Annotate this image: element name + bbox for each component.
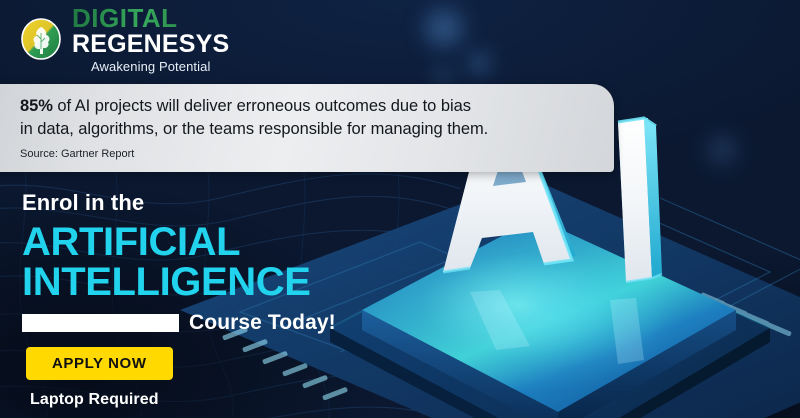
brand-wordmark: DIGITAL REGENESYS Awakening Potential: [72, 5, 229, 73]
statistic-line-2: in data, algorithms, or the teams respon…: [20, 118, 614, 141]
brand-tagline: Awakening Potential: [72, 60, 229, 73]
statistic-banner: 85% of AI projects will deliver erroneou…: [0, 84, 614, 172]
statistic-line-1-rest: of AI projects will deliver erroneous ou…: [53, 97, 471, 115]
brand-name-line1: DIGITAL: [72, 5, 229, 31]
brand-logo[interactable]: DIGITAL REGENESYS Awakening Potential: [18, 8, 208, 70]
apply-now-button[interactable]: APPLY NOW: [26, 347, 173, 380]
statistic-line-1: 85% of AI projects will deliver erroneou…: [20, 95, 614, 118]
tree-emblem-icon: [18, 16, 64, 62]
blank-redaction-bar: [22, 314, 179, 332]
headline-kicker: Enrol in the: [22, 192, 382, 214]
headline-line-1: ARTIFICIAL: [22, 223, 382, 262]
headline-line-2: INTELLIGENCE: [22, 263, 382, 302]
headline-course-suffix: Course Today!: [189, 311, 336, 335]
headline-block: Enrol in the ARTIFICIAL INTELLIGENCE Cou…: [22, 192, 382, 335]
brand-name-line2: REGENESYS: [72, 32, 229, 57]
cta-block: APPLY NOW Laptop Required: [26, 347, 173, 409]
laptop-required-note: Laptop Required: [30, 391, 173, 409]
statistic-source: Source: Gartner Report: [20, 148, 614, 160]
advertisement-banner: DIGITAL REGENESYS Awakening Potential 85…: [0, 0, 800, 418]
headline-course-row: Course Today!: [22, 311, 382, 335]
statistic-percent: 85%: [20, 97, 53, 115]
